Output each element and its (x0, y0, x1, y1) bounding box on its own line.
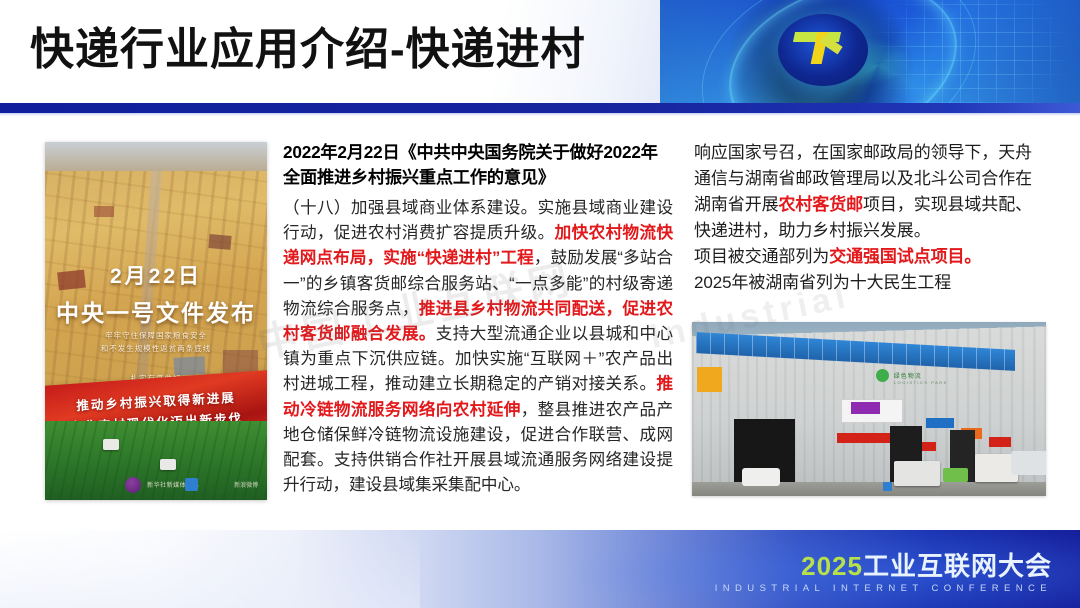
poster-subtitle-line-1: 牢牢守住保障国家粮食安全 (45, 330, 267, 341)
photo-purple-sign (851, 402, 879, 414)
photo-delivery-truck (894, 461, 940, 485)
poster-subtitle-line-2: 和不发生规模性返贫两条底线 (45, 343, 267, 354)
slide-root: 快递行业应用介绍-快递进村 2月22日 中央一号文件发布 牢牢守住保障国家粮食安… (0, 0, 1080, 608)
highlighted-text: 农村客货邮 (779, 195, 864, 214)
photo-blue-bin (883, 482, 892, 491)
page-title: 快递行业应用介绍-快递进村 (30, 20, 586, 80)
body-text: 2025年被湖南省列为十大民生工程 (694, 273, 951, 292)
poster-publisher-badge-icon (125, 477, 141, 493)
footer-left-tint (0, 530, 420, 608)
slide-header: 快递行业应用介绍-快递进村 (0, 0, 1080, 104)
poster-harvester (160, 459, 176, 470)
tech-grid-pattern (870, 0, 1070, 104)
photo-delivery-truck (1011, 451, 1046, 475)
project-description-paragraph: 响应国家号召，在国家邮政局的领导下，天舟通信与湖南省邮政管理局以及北斗公司合作在… (694, 140, 1046, 296)
document-heading: 2022年2月22日《中共中央国务院关于做好2022年全面推进乡村振兴重点工作的… (283, 140, 673, 190)
photo-red-banner (837, 433, 897, 443)
photo-logo-text: 绿色物流 (894, 371, 922, 380)
poster-harvester (103, 439, 119, 450)
conference-name-cn: 工业互联网大会 (863, 551, 1052, 581)
document-paragraph: （十八）加强县域商业体系建设。实施县域商业建设行动，促进农村消费扩容提质升级。加… (283, 195, 673, 497)
slide-footer: 2025工业互联网大会 INDUSTRIAL INTERNET CONFEREN… (0, 530, 1080, 608)
poster-main-title: 中央一号文件发布 (45, 294, 267, 328)
photo-blue-sign (926, 418, 954, 428)
conference-year: 2025 (801, 551, 863, 581)
poster-weibo-credit: 新浪微博 (234, 480, 258, 489)
photo-green-logo-icon (876, 369, 889, 382)
conference-logo: 2025工业互联网大会 INDUSTRIAL INTERNET CONFEREN… (715, 551, 1052, 594)
middle-text-column: 2022年2月22日《中共中央国务院关于做好2022年全面推进乡村振兴重点工作的… (283, 140, 673, 520)
poster-rooftop (94, 206, 114, 217)
logistics-warehouse-photo: 绿色物流 LOGISTICS PARK (692, 322, 1046, 496)
tiantong-t-logo-icon (794, 26, 848, 66)
photo-green-cart (943, 468, 968, 482)
photo-yellow-sign (697, 367, 722, 391)
conference-name-en: INDUSTRIAL INTERNET CONFERENCE (715, 583, 1052, 594)
photo-logo-subtext: LOGISTICS PARK (894, 380, 948, 385)
photo-parcel-bags (742, 468, 781, 485)
poster-blue-logo-icon (185, 478, 198, 491)
body-text: 项目被交通部列为 (694, 247, 829, 266)
header-divider-bar (0, 103, 1080, 113)
conference-logo-main: 2025工业互联网大会 (715, 551, 1052, 581)
header-tech-graphic (660, 0, 1080, 104)
highlighted-text: 交通强国试点项目。 (829, 247, 981, 266)
poster-sky (45, 142, 267, 174)
photo-red-banner (989, 437, 1010, 447)
poster-rooftop (209, 234, 232, 250)
poster-date-title: 2月22日 (45, 260, 267, 290)
poster-image-no1-document: 2月22日 中央一号文件发布 牢牢守住保障国家粮食安全 和不发生规模性返贫两条底… (45, 142, 267, 500)
